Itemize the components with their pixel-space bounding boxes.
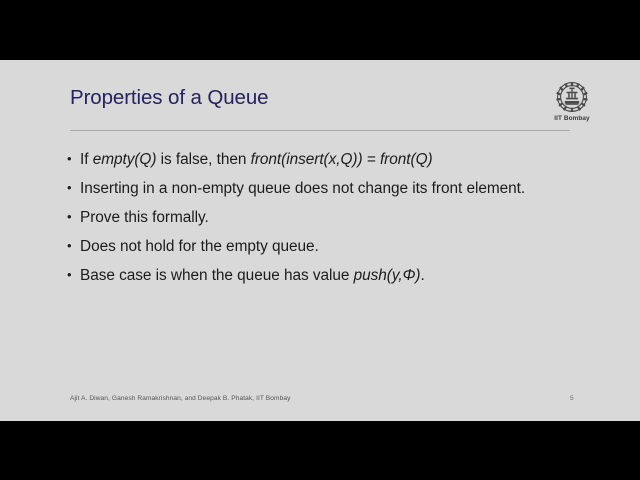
bullet-text-0: If empty(Q) is false, then front(insert(… — [80, 151, 433, 168]
slide-page-number: 5 — [570, 395, 574, 402]
video-player-frame: Properties of a Queue — [0, 0, 640, 480]
bullet-text-1: Inserting in a non-empty queue does not … — [80, 180, 525, 197]
letterbox-bar-top — [0, 0, 640, 60]
page-title: Properties of a Queue — [70, 86, 268, 110]
bullet-text-2: Prove this formally. — [80, 209, 209, 226]
bullet-text-3: Does not hold for the empty queue. — [80, 238, 319, 255]
footer-credit: Ajit A. Diwan, Ganesh Ramakrishnan, and … — [70, 395, 290, 402]
title-divider — [70, 130, 570, 131]
bullet-item-3: Does not hold for the empty queue. — [66, 237, 566, 257]
presentation-slide: Properties of a Queue — [0, 60, 640, 421]
bullet-text-4: Base case is when the queue has value pu… — [80, 267, 425, 284]
bullet-item-0: If empty(Q) is false, then front(insert(… — [66, 150, 566, 170]
iit-bombay-gear-emblem-icon — [551, 80, 593, 114]
bullet-item-4: Base case is when the queue has value pu… — [66, 266, 566, 286]
bullet-item-2: Prove this formally. — [66, 208, 566, 228]
bullet-list: If empty(Q) is false, then front(insert(… — [66, 150, 566, 295]
logo-caption: IIT Bombay — [540, 115, 604, 122]
letterbox-bar-bottom — [0, 421, 640, 480]
iit-bombay-logo: IIT Bombay — [540, 80, 604, 122]
bullet-item-1: Inserting in a non-empty queue does not … — [66, 179, 566, 199]
